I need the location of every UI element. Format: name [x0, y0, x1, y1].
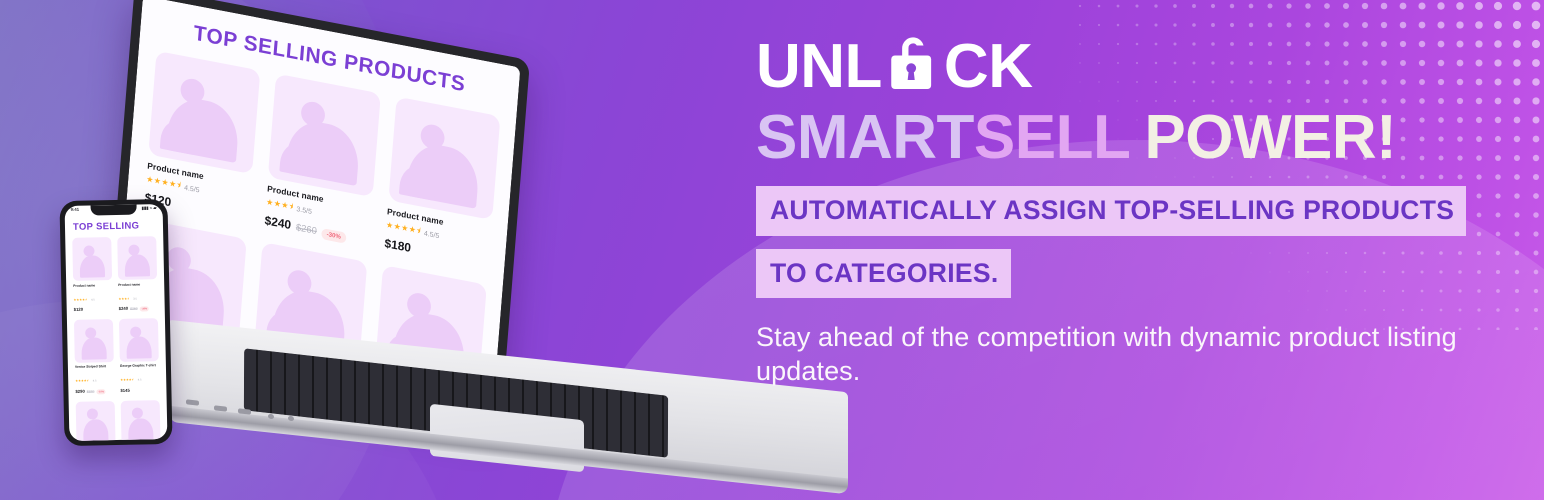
product-card[interactable]: Venice Striped Shirt★★★★⯨ 4.5$290$320-10… [74, 319, 115, 395]
discount-badge: -10% [96, 389, 106, 394]
rating-value: 4.5 [138, 379, 142, 382]
image-placeholder-mountain [125, 254, 150, 277]
star-rating-icon: ★★★⯨ [118, 296, 128, 300]
phone-status-time: 9:41 [71, 207, 79, 212]
phone-notch [91, 205, 137, 216]
laptop-port-4 [268, 414, 274, 420]
star-rating-icon: ★★★★⯨ [75, 379, 88, 383]
rating-value: 4.5 [93, 380, 97, 383]
product-thumbnail [74, 319, 114, 363]
product-price: $180 [384, 236, 412, 255]
headline-ck: CK [944, 38, 1033, 96]
product-card[interactable]: Product name★★★★⯨4.5/5$120 [144, 51, 261, 225]
product-rating-row: ★★★★⯨ 4.5 [73, 287, 112, 306]
phone-screen: 9:41 ▮▮▮ ⌁ ▰ TOP SELLING Product name★★★… [65, 204, 168, 441]
image-placeholder-mountain [128, 418, 153, 441]
headline-line-1: UNL CK [756, 36, 1516, 98]
headline-unl: UNL [756, 38, 882, 96]
device-mockups: TOP SELLING PRODUCTS Product name★★★★⯨4.… [0, 0, 840, 500]
laptop-port-5 [288, 416, 294, 422]
laptop-mockup: TOP SELLING PRODUCTS Product name★★★★⯨4.… [110, 22, 830, 492]
phone-mockup: 9:41 ▮▮▮ ⌁ ▰ TOP SELLING Product name★★★… [59, 199, 172, 446]
product-card[interactable]: Product name★★★★⯨ 4.5$120 [76, 401, 117, 441]
image-placeholder-mountain [80, 255, 105, 278]
star-rating-icon: ★★★⯨ [266, 196, 295, 215]
product-thumbnail [148, 51, 260, 175]
product-old-price: $260 [130, 307, 138, 311]
image-placeholder-sun [87, 409, 98, 420]
discount-badge: -30% [140, 307, 150, 312]
product-card[interactable]: Product name★★★★⯨4.5/5$180 [384, 97, 501, 271]
open-padlock-icon [884, 29, 942, 91]
product-thumbnail [76, 401, 116, 441]
product-thumbnail [117, 236, 157, 280]
product-rating-row: ★★★⯨ 3.5 [118, 286, 157, 305]
product-price-row: $290$320-10% [75, 388, 114, 395]
image-placeholder-mountain [81, 337, 106, 360]
phone-status-icons: ▮▮▮ ⌁ ▰ [142, 205, 157, 210]
headline-sell: SELL [974, 103, 1130, 172]
star-rating-icon: ★★★★⯨ [120, 378, 133, 382]
product-card[interactable]: Product name★★★⯨ 3.5$240$260-30% [117, 236, 158, 312]
headline-line-2: SMARTSELLPOWER! [756, 106, 1516, 169]
promo-banner: TOP SELLING PRODUCTS Product name★★★★⯨4.… [0, 0, 1544, 500]
highlight-band-1: AUTOMATICALLY ASSIGN TOP-SELLING PRODUCT… [756, 186, 1466, 236]
product-thumbnail [388, 97, 500, 221]
phone-screen-title: TOP SELLING [73, 220, 140, 232]
product-thumbnail [121, 400, 161, 441]
headline-smart: SMART [756, 103, 974, 172]
rating-value: 4.5/5 [184, 184, 200, 194]
image-placeholder-mountain [126, 336, 151, 359]
product-thumbnail [72, 237, 112, 281]
product-price: $240 [119, 306, 128, 311]
rating-value: 3.5/5 [296, 206, 312, 216]
product-price-row: $120 [74, 306, 113, 312]
product-old-price: $260 [295, 222, 317, 237]
product-thumbnail [119, 318, 159, 362]
phone-product-grid: Product name★★★★⯨ 4.5$120Product name★★★… [72, 236, 161, 441]
product-rating-row: ★★★★⯨ 4.5 [75, 368, 114, 387]
product-price: $120 [74, 307, 83, 312]
product-price: $145 [120, 388, 129, 393]
product-price: $240 [264, 213, 292, 232]
rating-value: 4.5 [91, 298, 95, 301]
product-rating-row: ★★★★⯨ 4.5 [120, 367, 159, 386]
product-card[interactable]: George Graphic T-shirt★★★★⯨ 4.5$145 [119, 318, 160, 394]
product-price: $290 [75, 388, 84, 393]
product-thumbnail [268, 74, 380, 198]
product-card[interactable]: Product name★★★★⯨ 4.5$120 [72, 237, 113, 313]
product-price-row: $145 [120, 387, 159, 393]
highlight-band-2: TO CATEGORIES. [756, 249, 1011, 299]
subcopy-text: Stay ahead of the competition with dynam… [756, 320, 1516, 388]
laptop-base [168, 356, 848, 486]
image-placeholder-sun [132, 408, 143, 419]
banner-copy: UNL CK SMARTSELLPOWER! AUTOMATICALLY ASS… [756, 36, 1516, 388]
headline-power: POWER! [1144, 103, 1396, 172]
product-old-price: $320 [87, 389, 95, 393]
image-placeholder-mountain [83, 419, 108, 441]
discount-badge: -30% [321, 228, 346, 244]
product-card[interactable]: Product name★★★⯨ 3.5$240$260-30% [121, 400, 162, 441]
rating-value: 3.5 [133, 297, 137, 300]
product-card[interactable]: Product name★★★⯨3.5/5$240$260-30% [264, 74, 381, 248]
star-rating-icon: ★★★★⯨ [73, 297, 86, 301]
product-price-row: $240$260-30% [119, 305, 158, 312]
rating-value: 4.5/5 [424, 230, 440, 240]
